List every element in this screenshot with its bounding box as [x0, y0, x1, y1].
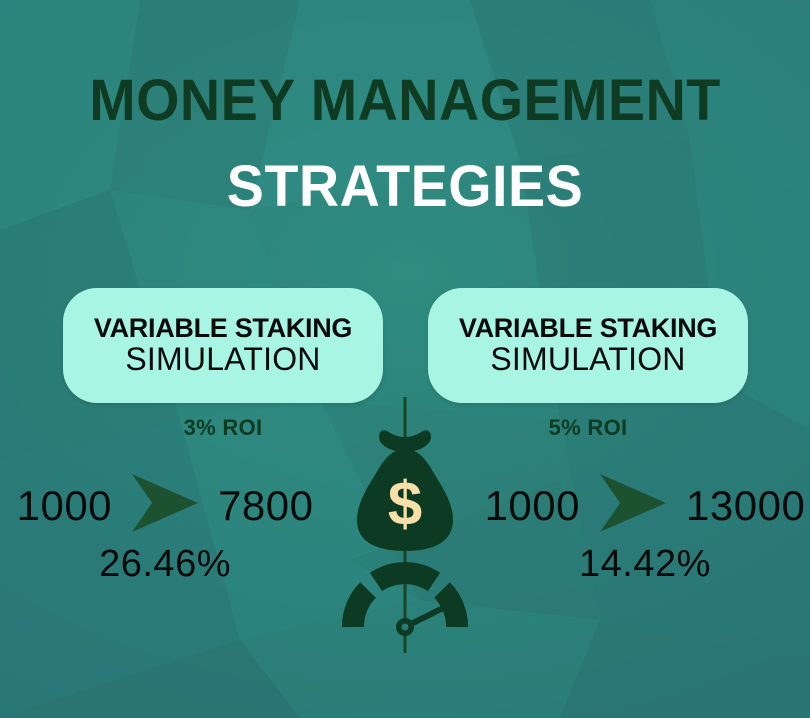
percent-group-left: 26.46% [0, 543, 368, 586]
poster-heading: MONEY MANAGEMENT STRATEGIES [0, 72, 810, 216]
start-value-left: 1000 [17, 485, 112, 527]
page-title-line1: MONEY MANAGEMENT [16, 72, 794, 130]
arrow-right-icon [594, 472, 672, 539]
end-value-right: 13000 [686, 485, 805, 527]
bankroll-group-right: 1000 13000 [442, 472, 810, 539]
page-title-line2: STRATEGIES [16, 130, 794, 216]
bankroll-group-left: 1000 7800 [0, 472, 368, 539]
card-variable-staking-left: VARIABLE STAKING SIMULATION [63, 288, 383, 403]
end-value-left: 7800 [218, 485, 313, 527]
percent-value-left: 26.46% [99, 543, 231, 585]
card-title: VARIABLE STAKING [94, 314, 352, 342]
card-title: VARIABLE STAKING [459, 314, 717, 342]
card-subtitle: SIMULATION [125, 342, 320, 377]
card-row: VARIABLE STAKING SIMULATION VARIABLE STA… [63, 288, 748, 403]
center-graphic: $ [335, 395, 475, 657]
percent-value-right: 14.42% [579, 543, 711, 585]
roi-label-right: 5% ROI [428, 415, 748, 441]
money-bag-icon: $ [357, 430, 453, 551]
dollar-sign-glyph: $ [388, 470, 422, 539]
poster-canvas: MONEY MANAGEMENT STRATEGIES VARIABLE STA… [0, 0, 810, 718]
arrow-right-icon [126, 472, 204, 539]
card-subtitle: SIMULATION [490, 342, 685, 377]
card-variable-staking-right: VARIABLE STAKING SIMULATION [428, 288, 748, 403]
start-value-right: 1000 [485, 485, 580, 527]
percent-group-right: 14.42% [442, 543, 810, 586]
